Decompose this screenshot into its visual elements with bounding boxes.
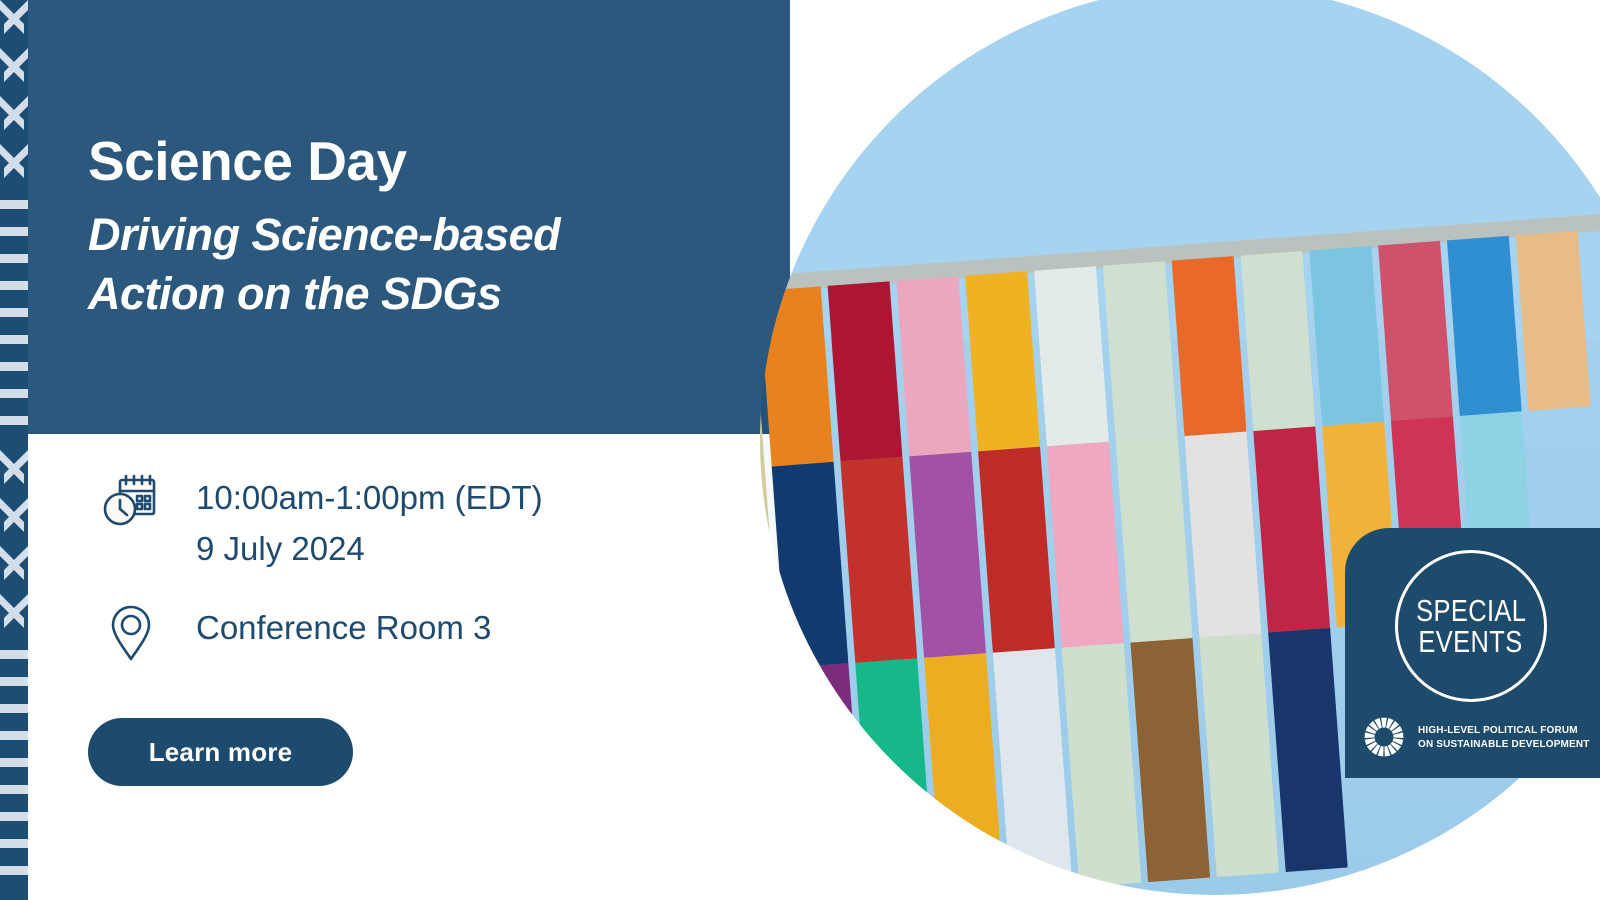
page-title: Science Day xyxy=(88,133,407,189)
facade-panel xyxy=(1241,251,1315,425)
sdg-wheel-segment xyxy=(1381,718,1387,728)
facade-panel xyxy=(1268,628,1347,872)
subtitle-line-2: Action on the SDGs xyxy=(88,265,560,324)
hlpf-line-2: ON SUSTAINABLE DEVELOPMENT xyxy=(1418,737,1590,751)
map-pin-icon xyxy=(100,600,162,667)
event-location-value: Conference Room 3 xyxy=(196,600,491,653)
learn-more-button[interactable]: Learn more xyxy=(88,718,353,786)
facade-panel xyxy=(1034,266,1108,440)
event-time-text: 10:00am-1:00pm (EDT) 9 July 2024 xyxy=(196,470,543,574)
facade-panel xyxy=(1116,437,1192,637)
event-location-row: Conference Room 3 xyxy=(100,600,491,667)
special-events-circle: SPECIAL EVENTS xyxy=(1395,550,1547,702)
facade-panel xyxy=(1131,638,1210,882)
facade-panel xyxy=(1062,643,1141,887)
calendar-clock-icon xyxy=(100,470,162,537)
event-time-row: 10:00am-1:00pm (EDT) 9 July 2024 xyxy=(100,470,543,574)
facade-panel xyxy=(1103,261,1177,435)
facade-panel xyxy=(1516,231,1590,405)
event-time-value: 10:00am-1:00pm (EDT) xyxy=(196,472,543,523)
facade-row xyxy=(718,628,1348,900)
facade-panel xyxy=(1199,633,1278,877)
facade-panel xyxy=(924,653,1003,897)
event-banner: Science Day Driving Science-based Action… xyxy=(0,0,1600,900)
hlpf-org-text: HIGH-LEVEL POLITICAL FORUM ON SUSTAINABL… xyxy=(1418,723,1590,751)
facade-panel xyxy=(1378,241,1452,415)
hlpf-line-1: HIGH-LEVEL POLITICAL FORUM xyxy=(1418,723,1590,737)
badge-line-1: SPECIAL xyxy=(1416,595,1526,626)
facade-panel xyxy=(978,447,1054,647)
special-events-badge: SPECIAL EVENTS HIGH-LEVEL POLITICAL FORU… xyxy=(1345,528,1600,778)
page-subtitle: Driving Science-based Action on the SDGs xyxy=(88,206,560,323)
event-date-value: 9 July 2024 xyxy=(196,523,543,574)
facade-panel xyxy=(993,648,1072,892)
facade-panel xyxy=(965,271,1039,445)
facade-panel xyxy=(1253,427,1329,627)
facade-panel xyxy=(1185,432,1261,632)
subtitle-line-1: Driving Science-based xyxy=(88,206,560,265)
facade-panel xyxy=(1447,236,1521,410)
badge-line-2: EVENTS xyxy=(1419,626,1523,657)
facade-panel xyxy=(786,663,865,900)
facade-panel xyxy=(909,452,985,652)
facade-panel xyxy=(828,281,902,455)
facade-panel xyxy=(1309,246,1383,420)
facade-panel xyxy=(841,457,917,657)
facade-panel xyxy=(1172,256,1246,430)
facade-panel xyxy=(855,658,934,900)
content-column: Science Day Driving Science-based Action… xyxy=(0,0,790,900)
facade-panel xyxy=(1047,442,1123,642)
hlpf-logo-block: HIGH-LEVEL POLITICAL FORUM ON SUSTAINABL… xyxy=(1363,716,1599,758)
facade-panel xyxy=(896,276,970,450)
sdg-wheel-icon xyxy=(1363,716,1405,758)
